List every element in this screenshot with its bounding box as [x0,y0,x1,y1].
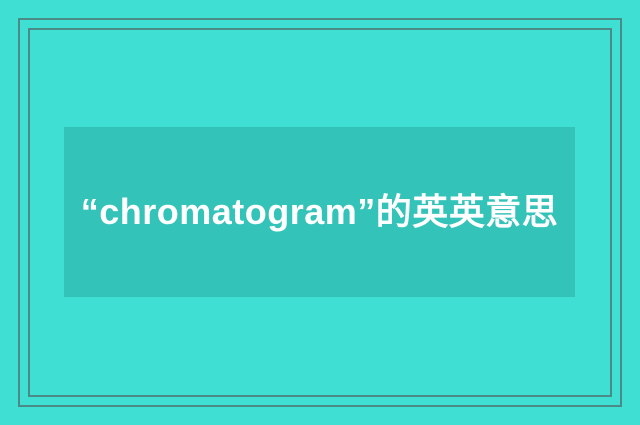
caption-band: “chromatogram”的英英意思 [64,127,575,297]
poster-canvas: “chromatogram”的英英意思 [0,0,640,425]
caption-title: “chromatogram”的英英意思 [81,183,559,241]
